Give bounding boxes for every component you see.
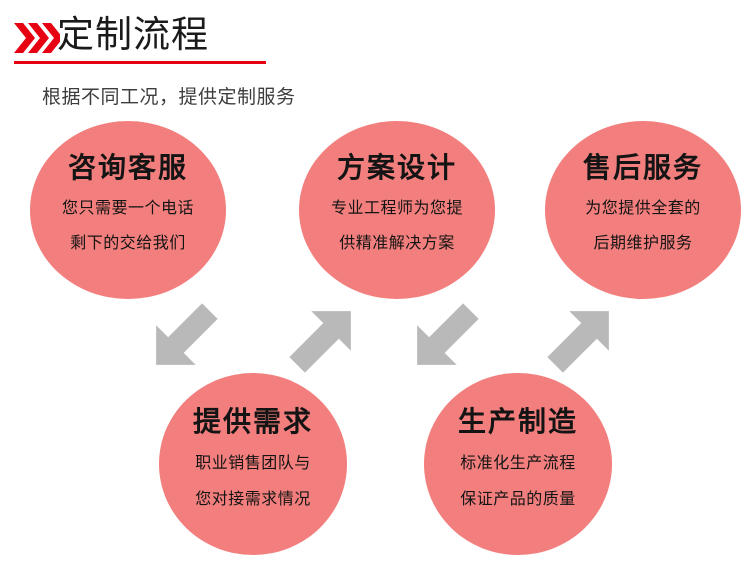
flow-node-design[interactable]: 方案设计 专业工程师为您提 供精准解决方案 [299,121,495,299]
arrow-down-right-icon [402,296,486,380]
flow-node-manufacturing[interactable]: 生产制造 标准化生产流程 保证产品的质量 [424,373,612,555]
flow-node-title: 方案设计 [337,153,457,185]
flow-node-title: 提供需求 [193,407,313,439]
arrow-up-right-icon [282,296,366,380]
flow-node-desc-line-1: 标准化生产流程 [460,453,576,475]
title-underline [14,61,266,64]
flow-node-title: 售后服务 [583,153,703,185]
page-title: 定制流程 [57,11,209,59]
flow-node-after-sales[interactable]: 售后服务 为您提供全套的 后期维护服务 [545,121,741,299]
flow-node-desc-line-2: 保证产品的质量 [460,489,576,511]
arrow-down-right-icon [141,296,225,380]
flow-node-desc-line-1: 职业销售团队与 [195,453,311,475]
flow-node-title: 咨询客服 [68,153,188,185]
slide-canvas: 定制流程 根据不同工况，提供定制服务 咨询客服 您只需要一个电话 剩下的交给我们… [0,0,750,576]
flow-node-desc-line-1: 您只需要一个电话 [62,198,194,220]
arrow-up-right-icon [540,296,624,380]
flow-node-desc-line-2: 您对接需求情况 [195,489,311,511]
flow-node-requirements[interactable]: 提供需求 职业销售团队与 您对接需求情况 [159,373,347,555]
flow-node-desc-line-2: 后期维护服务 [593,233,692,255]
header: 定制流程 根据不同工况，提供定制服务 [0,0,750,118]
flow-node-desc-line-2: 剩下的交给我们 [70,233,186,255]
double-chevron-right-icon [14,21,60,55]
flow-node-desc-line-1: 专业工程师为您提 [331,198,463,220]
flow-node-consult[interactable]: 咨询客服 您只需要一个电话 剩下的交给我们 [30,121,226,299]
flow-node-desc-line-2: 供精准解决方案 [339,233,455,255]
page-subtitle: 根据不同工况，提供定制服务 [42,85,296,111]
flow-node-title: 生产制造 [458,407,578,439]
flow-node-desc-line-1: 为您提供全套的 [585,198,701,220]
